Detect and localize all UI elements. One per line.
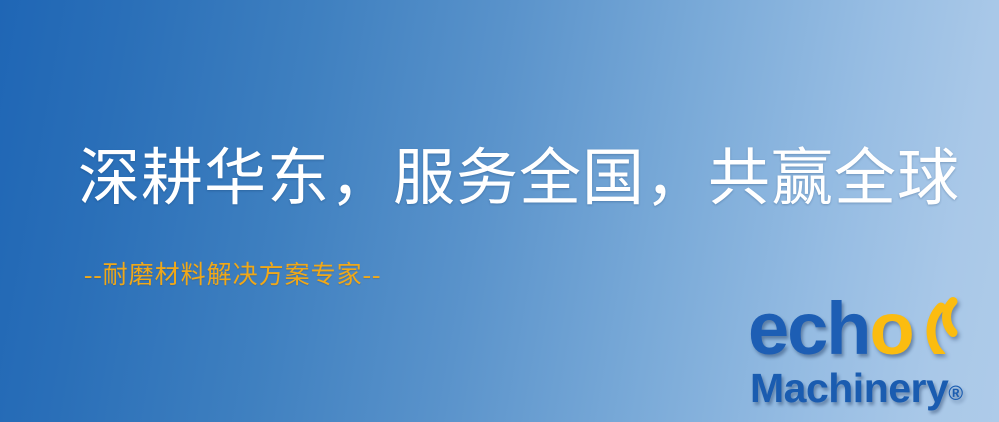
logo-text-ech: ech (748, 287, 870, 370)
logo-wordmark: echo (748, 292, 913, 366)
page-subtitle: --耐磨材料解决方案专家-- (84, 263, 381, 288)
page-title: 深耕华东，服务全国，共赢全球 (78, 148, 960, 210)
signal-waves-icon (914, 290, 984, 354)
registered-trademark-icon: ® (948, 383, 963, 405)
logo-tagline-text: Machinery (750, 365, 948, 411)
hero-banner: 深耕华东，服务全国，共赢全球 --耐磨材料解决方案专家-- echo Machi… (0, 0, 999, 422)
logo-tagline: Machinery® (750, 366, 963, 416)
company-logo: echo Machinery® (748, 292, 996, 418)
logo-text-o: o (870, 287, 913, 370)
